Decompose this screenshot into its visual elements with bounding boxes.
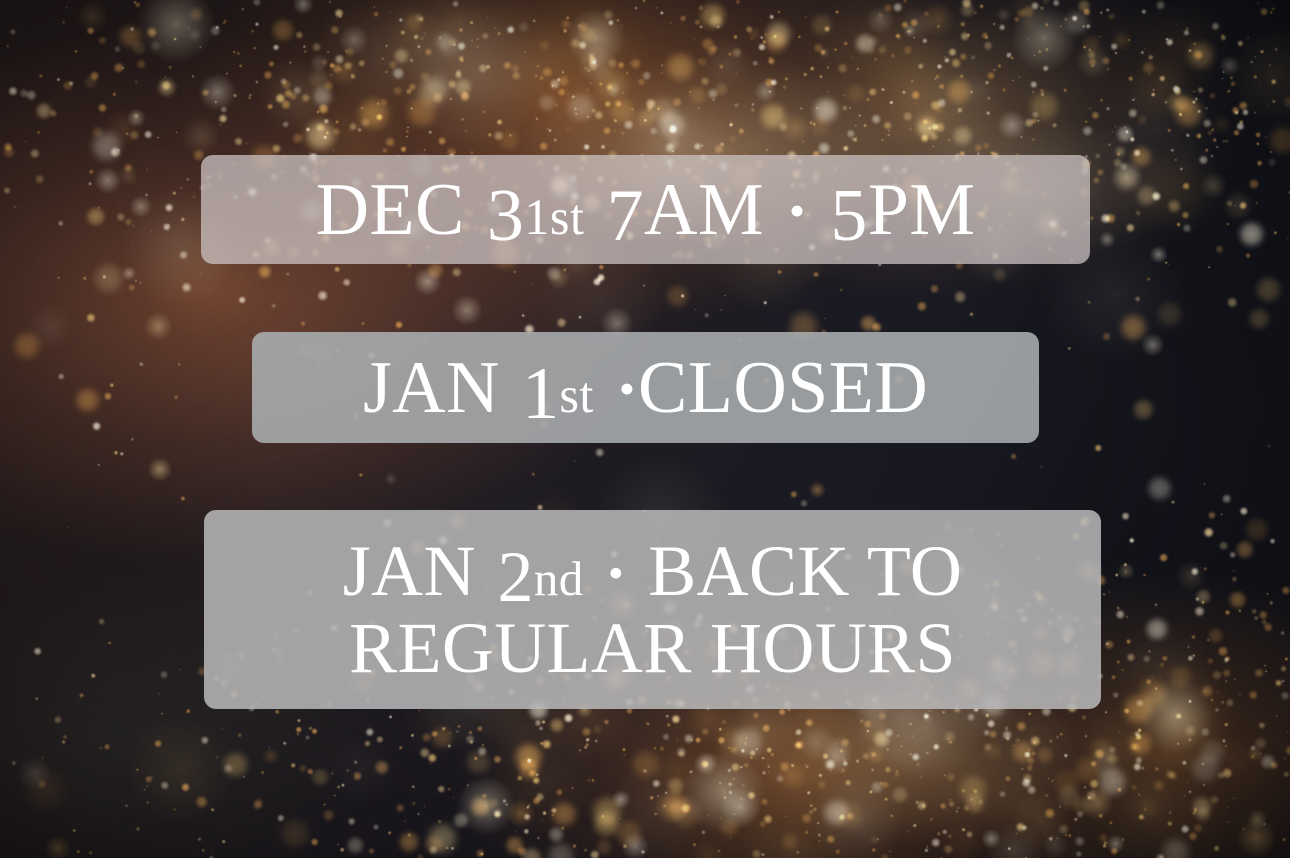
bullet-separator-icon: • [616, 363, 638, 414]
bullet-separator-icon: • [786, 185, 808, 236]
jan2-day-ordinal: nd [534, 551, 584, 606]
back-to-label: BACK TO [648, 531, 962, 611]
banner-jan1-line-1: JAN1st•CLOSED [363, 351, 928, 425]
dec-day-figure: 3 [487, 175, 524, 257]
regular-hours-label: REGULAR HOURS [349, 608, 956, 688]
bullet-separator-icon: • [605, 548, 626, 598]
jan1-day-figure: 1 [522, 353, 559, 435]
open-hour: 7 [607, 175, 644, 257]
holiday-hours-poster: DEC31st7AM•5PM JAN1st•CLOSED JAN2nd•BACK… [0, 0, 1290, 858]
jan1-day-ordinal: st [559, 367, 594, 423]
jan2-day-figure: 2 [497, 537, 533, 617]
banner-date-dec31: DEC31st7AM•5PM [201, 155, 1090, 264]
dec-label: DEC [316, 169, 465, 251]
close-meridiem: PM [868, 169, 976, 251]
banner-date-jan2: JAN2nd•BACK TO REGULAR HOURS [204, 510, 1101, 709]
open-meridiem: AM [644, 169, 764, 251]
banner-date-jan1: JAN1st•CLOSED [252, 332, 1039, 443]
banner-jan2-line-1: JAN2nd•BACK TO [343, 531, 962, 612]
jan-label: JAN [363, 347, 500, 429]
banner-jan2-line-2: REGULAR HOURS [349, 608, 956, 689]
closed-label: CLOSED [638, 347, 928, 429]
dec-day-ordinal: 1st [524, 189, 584, 245]
close-hour: 5 [830, 175, 867, 257]
jan-label: JAN [343, 531, 476, 611]
banner-dec31-line-1: DEC31st7AM•5PM [316, 173, 976, 247]
